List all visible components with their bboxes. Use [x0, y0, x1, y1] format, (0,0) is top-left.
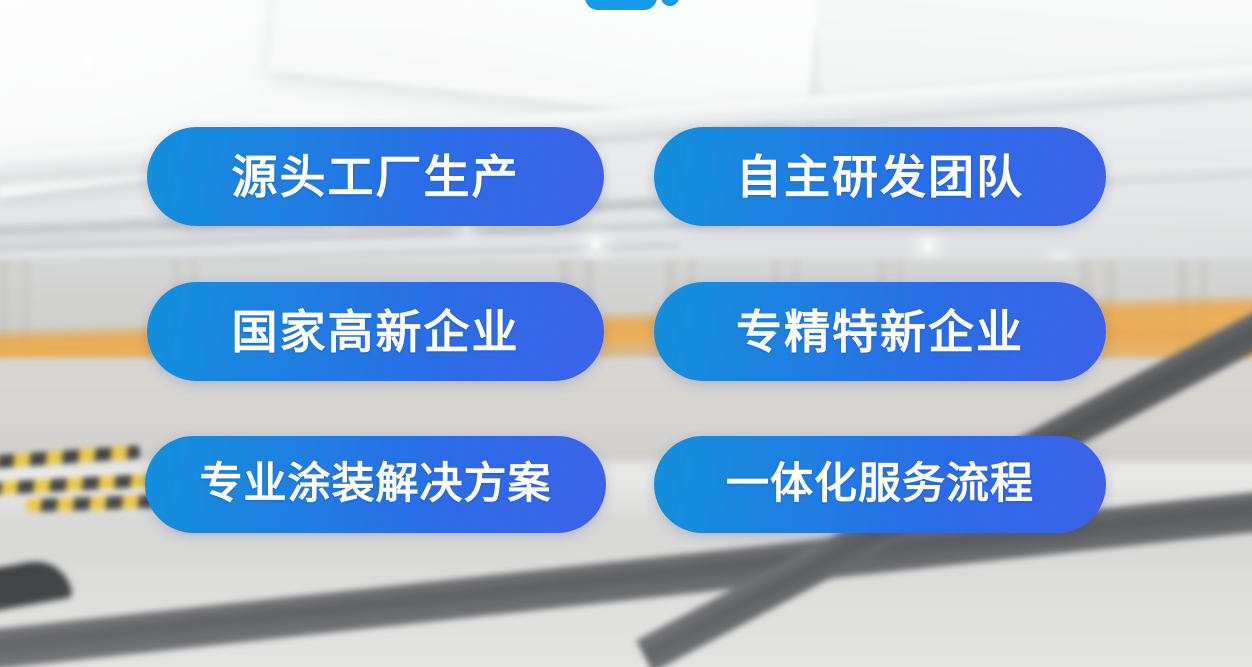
- feature-pill-label: 一体化服务流程: [726, 463, 1034, 506]
- banner-stage: 源头工厂生产 自主研发团队 国家高新企业 专精特新企业 专业涂装解决方案 一体化…: [0, 0, 1252, 667]
- feature-pill-row2-right[interactable]: 专精特新企业: [654, 282, 1106, 381]
- feature-pill-label: 专业涂装解决方案: [200, 463, 552, 506]
- feature-pill-label: 国家高新企业: [232, 309, 520, 355]
- feature-pill-row1-left[interactable]: 源头工厂生产: [147, 127, 604, 226]
- feature-pill-label: 自主研发团队: [736, 154, 1024, 200]
- feature-pill-row3-right[interactable]: 一体化服务流程: [654, 436, 1106, 533]
- feature-pill-grid: 源头工厂生产 自主研发团队 国家高新企业 专精特新企业 专业涂装解决方案 一体化…: [0, 0, 1252, 667]
- feature-pill-row2-left[interactable]: 国家高新企业: [147, 282, 604, 381]
- feature-pill-row3-left[interactable]: 专业涂装解决方案: [145, 436, 606, 533]
- feature-pill-label: 专精特新企业: [736, 309, 1024, 355]
- feature-pill-row1-right[interactable]: 自主研发团队: [654, 127, 1106, 226]
- feature-pill-label: 源头工厂生产: [232, 154, 520, 200]
